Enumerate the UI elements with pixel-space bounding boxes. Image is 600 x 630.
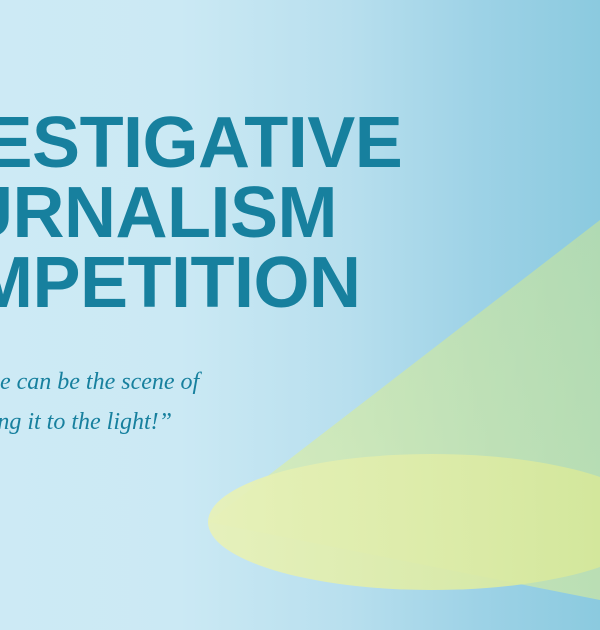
- subtitle-line-2: a story — bring it to the light!”: [0, 402, 600, 442]
- subtitle-line-1: “Every village can be the scene of: [0, 362, 600, 402]
- poster-text-block: INVESTIGATIVE JOURNALISM COMPETITION “Ev…: [0, 0, 600, 630]
- poster-subtitle: “Every village can be the scene of a sto…: [0, 362, 600, 442]
- headline-line-1: INVESTIGATIVE: [0, 108, 600, 178]
- headline-line-3: COMPETITION: [0, 248, 600, 318]
- page-title: INVESTIGATIVE JOURNALISM COMPETITION: [0, 108, 600, 318]
- poster-canvas: INVESTIGATIVE JOURNALISM COMPETITION “Ev…: [0, 0, 600, 630]
- headline-line-2: JOURNALISM: [0, 178, 600, 248]
